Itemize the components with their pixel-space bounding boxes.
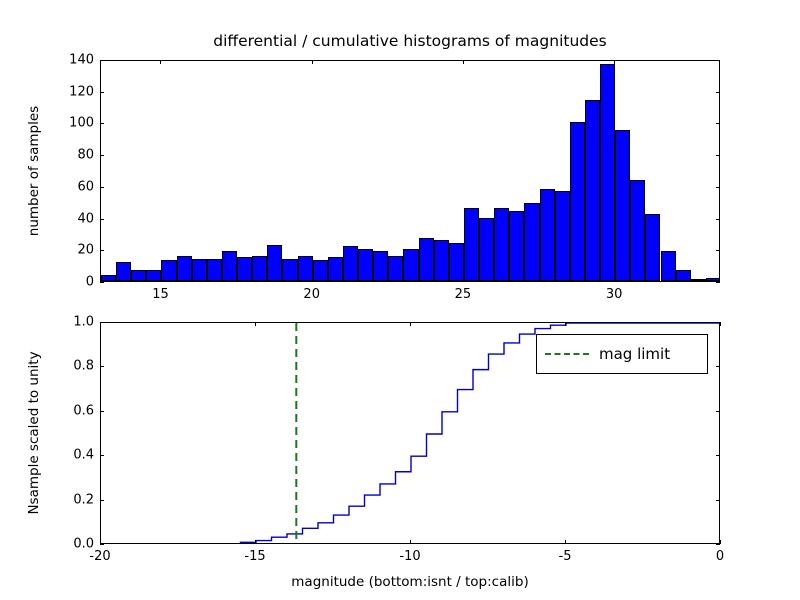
- x-tick-mark: [410, 322, 411, 326]
- x-tick-mark: [720, 322, 721, 326]
- histogram-bar: [585, 100, 600, 281]
- x-tick-mark: [410, 540, 411, 544]
- x-axis-label: magnitude (bottom:isnt / top:calib): [100, 574, 720, 590]
- x-tick-mark: [463, 278, 464, 282]
- legend-label-mag-limit: mag limit: [599, 345, 670, 363]
- y-tick-mark: [100, 282, 104, 283]
- legend: mag limit: [536, 334, 708, 374]
- histogram-bar: [555, 191, 570, 281]
- x-tick-mark: [160, 278, 161, 282]
- y-tick-label: 0.0: [54, 537, 94, 552]
- y-tick-mark: [716, 366, 720, 367]
- y-tick-label: 20: [54, 243, 94, 258]
- y-tick-mark: [716, 219, 720, 220]
- y-tick-label: 80: [54, 148, 94, 163]
- x-tick-mark: [312, 60, 313, 64]
- histogram-bar: [540, 189, 555, 281]
- y-tick-label: 120: [54, 84, 94, 99]
- y-tick-mark: [100, 250, 104, 251]
- histogram-bar: [192, 259, 207, 281]
- y-tick-mark: [716, 411, 720, 412]
- top-axes-histogram: [100, 60, 720, 282]
- y-tick-label: 40: [54, 211, 94, 226]
- histogram-bar: [116, 262, 131, 281]
- y-tick-mark: [716, 60, 720, 61]
- y-tick-mark: [716, 250, 720, 251]
- histogram-bar: [131, 270, 146, 281]
- y-tick-mark: [716, 544, 720, 545]
- y-tick-label: 60: [54, 179, 94, 194]
- y-tick-label: 0.8: [54, 359, 94, 374]
- y-tick-mark: [100, 544, 104, 545]
- histogram-bar: [403, 249, 418, 281]
- x-tick-label: -5: [559, 549, 572, 564]
- histogram-bar: [524, 203, 539, 281]
- histogram-bar: [419, 238, 434, 281]
- histogram-bar: [600, 64, 615, 281]
- histogram-bar: [343, 246, 358, 281]
- x-tick-mark: [614, 278, 615, 282]
- histogram-bar: [645, 214, 660, 281]
- y-tick-mark: [100, 60, 104, 61]
- histogram-bar: [570, 122, 585, 281]
- histogram-bar: [691, 279, 706, 281]
- histogram-bar: [464, 208, 479, 281]
- y-tick-mark: [716, 455, 720, 456]
- y-tick-mark: [716, 123, 720, 124]
- x-tick-mark: [614, 60, 615, 64]
- x-tick-label: 20: [303, 287, 320, 302]
- histogram-bar: [630, 180, 645, 281]
- x-tick-mark: [255, 540, 256, 544]
- x-tick-label: 15: [152, 287, 169, 302]
- histogram-bar: [161, 260, 176, 281]
- y-tick-mark: [716, 322, 720, 323]
- x-tick-mark: [720, 540, 721, 544]
- histogram-bar: [267, 245, 282, 281]
- y-tick-mark: [100, 500, 104, 501]
- figure-canvas: differential / cumulative histograms of …: [0, 0, 800, 600]
- histogram-bar: [676, 270, 691, 281]
- y-tick-label: 1.0: [54, 315, 94, 330]
- y-tick-mark: [100, 322, 104, 323]
- histogram-bar: [146, 270, 161, 281]
- y-tick-mark: [100, 219, 104, 220]
- top-plot-area: [101, 61, 719, 281]
- y-tick-mark: [100, 92, 104, 93]
- x-tick-label: 25: [455, 287, 472, 302]
- y-tick-mark: [716, 282, 720, 283]
- y-tick-mark: [716, 187, 720, 188]
- y-tick-mark: [100, 411, 104, 412]
- histogram-bar: [298, 256, 313, 281]
- x-tick-label: 30: [606, 287, 623, 302]
- y-tick-label: 0.2: [54, 492, 94, 507]
- histogram-bar: [207, 259, 222, 281]
- y-tick-mark: [716, 500, 720, 501]
- x-tick-mark: [312, 278, 313, 282]
- histogram-bar: [373, 251, 388, 281]
- y-tick-label: 0.4: [54, 448, 94, 463]
- y-tick-label: 0: [54, 275, 94, 290]
- histogram-bar: [706, 278, 719, 281]
- y-tick-label: 100: [54, 116, 94, 131]
- x-tick-mark: [255, 322, 256, 326]
- histogram-bar: [434, 240, 449, 281]
- y-tick-mark: [716, 155, 720, 156]
- histogram-bar: [252, 256, 267, 281]
- histogram-bar: [237, 257, 252, 281]
- histogram-bar: [479, 218, 494, 281]
- x-tick-mark: [565, 322, 566, 326]
- histogram-bar: [328, 257, 343, 281]
- y-tick-mark: [100, 455, 104, 456]
- y-tick-mark: [100, 123, 104, 124]
- y-tick-label: 140: [54, 53, 94, 68]
- y-tick-mark: [100, 187, 104, 188]
- chart-title: differential / cumulative histograms of …: [100, 32, 720, 50]
- top-y-axis-label: number of samples: [26, 106, 42, 236]
- y-tick-mark: [100, 366, 104, 367]
- mag-limit-line-icon: [545, 353, 589, 355]
- x-tick-mark: [565, 540, 566, 544]
- x-tick-mark: [463, 60, 464, 64]
- histogram-bar: [222, 251, 237, 281]
- bottom-y-axis-label: Nsample scaled to unity: [26, 351, 42, 514]
- y-tick-label: 0.6: [54, 403, 94, 418]
- histogram-bar: [661, 251, 676, 281]
- x-tick-label: 0: [716, 549, 724, 564]
- x-tick-mark: [160, 60, 161, 64]
- histogram-bar: [101, 275, 116, 281]
- histogram-bar: [449, 243, 464, 281]
- y-tick-mark: [716, 92, 720, 93]
- histogram-bar: [388, 256, 403, 281]
- histogram-bar: [177, 256, 192, 281]
- histogram-bar: [358, 249, 373, 281]
- histogram-bar: [509, 211, 524, 281]
- x-tick-label: -10: [399, 549, 420, 564]
- x-tick-label: -15: [244, 549, 265, 564]
- y-tick-mark: [100, 155, 104, 156]
- histogram-bar: [494, 208, 509, 281]
- histogram-bar: [282, 259, 297, 281]
- histogram-bar: [313, 260, 328, 281]
- histogram-bar: [615, 130, 630, 281]
